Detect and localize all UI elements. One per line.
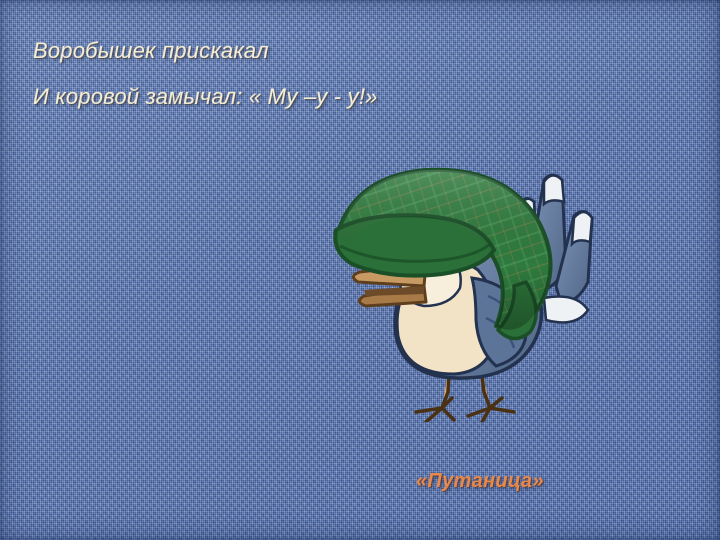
sparrow-illustration <box>330 160 602 422</box>
verse-line-1: Воробышек прискакал <box>33 28 673 74</box>
verse-line-2: И коровой замычал: « Му –у - у!» <box>33 74 673 120</box>
poem-title-caption: «Путаница» <box>416 470 544 493</box>
presentation-slide: Воробышек прискакал И коровой замычал: «… <box>0 0 720 540</box>
verse-text-block: Воробышек прискакал И коровой замычал: «… <box>33 28 673 120</box>
